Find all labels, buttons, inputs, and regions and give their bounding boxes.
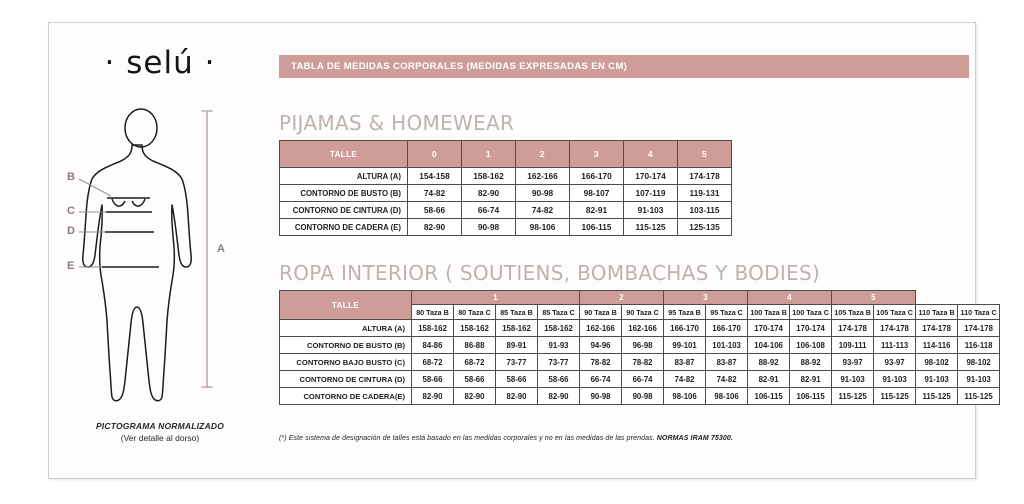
- cell: 90-98: [622, 388, 664, 405]
- cell: 158-162: [538, 320, 580, 337]
- cell: 111-113: [874, 337, 916, 354]
- marker-label-b: B: [67, 171, 75, 183]
- footnote: (*) Este sistema de designación de talle…: [279, 435, 733, 442]
- row-label: CONTORNO DE CADERA(E): [280, 388, 412, 405]
- cell: 162-166: [516, 168, 570, 185]
- cell: 158-162: [454, 320, 496, 337]
- cell: 91-103: [916, 371, 958, 388]
- row-label: CONTORNO DE CINTURA (D): [280, 371, 412, 388]
- cell: 83-87: [706, 354, 748, 371]
- table-row: ALTURA (A) 158-162 158-162 158-162 158-1…: [280, 320, 1000, 337]
- row-label: CONTORNO DE BUSTO (B): [280, 185, 408, 202]
- row-label: CONTORNO BAJO BUSTO (C): [280, 354, 412, 371]
- header-size-1: 1: [462, 141, 516, 168]
- cell: 82-90: [496, 388, 538, 405]
- row-label: CONTORNO DE BUSTO (B): [280, 337, 412, 354]
- cell: 125-135: [678, 219, 732, 236]
- body-pictogram: B C D E A: [49, 95, 271, 415]
- cell: 116-118: [958, 337, 1000, 354]
- cell: 94-96: [580, 337, 622, 354]
- header-sub-5: 90 Taza C: [622, 305, 664, 320]
- cell: 82-90: [412, 388, 454, 405]
- cell: 91-103: [832, 371, 874, 388]
- cell: 106-115: [790, 388, 832, 405]
- cell: 119-131: [678, 185, 732, 202]
- row-label: CONTORNO DE CINTURA (D): [280, 202, 408, 219]
- cell: 82-90: [538, 388, 580, 405]
- table-row: ALTURA (A) 154-158 158-162 162-166 166-1…: [280, 168, 732, 185]
- caption-line-1: PICTOGRAMA NORMALIZADO: [49, 421, 271, 431]
- cell: 166-170: [570, 168, 624, 185]
- section-title-ropa-interior: ROPA INTERIOR ( SOUTIENS, BOMBACHAS Y BO…: [279, 261, 820, 285]
- cell: 66-74: [462, 202, 516, 219]
- section-title-pijamas: PIJAMAS & HOMEWEAR: [279, 111, 514, 135]
- cell: 166-170: [664, 320, 706, 337]
- cell: 98-106: [664, 388, 706, 405]
- header-sub-10: 105 Taza B: [832, 305, 874, 320]
- header-talle: TALLE: [280, 291, 412, 320]
- cell: 103-115: [678, 202, 732, 219]
- cell: 58-66: [412, 371, 454, 388]
- right-panel: TABLA DE MEDIDAS CORPORALES (MEDIDAS EXP…: [271, 23, 975, 478]
- cell: 82-90: [454, 388, 496, 405]
- marker-label-e: E: [67, 260, 74, 272]
- header-sub-9: 100 Taza C: [790, 305, 832, 320]
- cell: 93-97: [832, 354, 874, 371]
- header-talle: TALLE: [280, 141, 408, 168]
- cell: 170-174: [748, 320, 790, 337]
- table-pijamas: TALLE 0 1 2 3 4 5 ALTURA (A) 154-158 158…: [279, 140, 732, 236]
- cell: 162-166: [622, 320, 664, 337]
- cell: 106-115: [570, 219, 624, 236]
- cell: 115-125: [958, 388, 1000, 405]
- cell: 83-87: [664, 354, 706, 371]
- table-ropa-interior: TALLE 1 2 3 4 5 80 Taza B 80 Taza C 85 T…: [279, 290, 1000, 405]
- cell: 154-158: [408, 168, 462, 185]
- cell: 91-103: [958, 371, 1000, 388]
- header-group-1: 1: [412, 291, 580, 305]
- cell: 91-103: [874, 371, 916, 388]
- row-label: ALTURA (A): [280, 320, 412, 337]
- cell: 78-82: [580, 354, 622, 371]
- cell: 73-77: [496, 354, 538, 371]
- cell: 84-86: [412, 337, 454, 354]
- header-group-2: 2: [580, 291, 664, 305]
- header-sub-11: 105 Taza C: [874, 305, 916, 320]
- cell: 91-93: [538, 337, 580, 354]
- table-row: CONTORNO DE BUSTO (B) 84-86 86-88 89-91 …: [280, 337, 1000, 354]
- cell: 115-125: [832, 388, 874, 405]
- footnote-text: (*) Este sistema de designación de talle…: [279, 435, 657, 442]
- cell: 115-125: [874, 388, 916, 405]
- cell: 104-106: [748, 337, 790, 354]
- cell: 115-125: [624, 219, 678, 236]
- cell: 174-178: [916, 320, 958, 337]
- header-size-5: 5: [678, 141, 732, 168]
- header-sub-8: 100 Taza B: [748, 305, 790, 320]
- cell: 96-98: [622, 337, 664, 354]
- cell: 90-98: [516, 185, 570, 202]
- cell: 78-82: [622, 354, 664, 371]
- cell: 82-91: [748, 371, 790, 388]
- header-sub-13: 110 Taza C: [958, 305, 1000, 320]
- header-sub-1: 80 Taza C: [454, 305, 496, 320]
- cell: 88-92: [790, 354, 832, 371]
- table-row: CONTORNO DE BUSTO (B) 74-82 82-90 90-98 …: [280, 185, 732, 202]
- header-sub-7: 95 Taza C: [706, 305, 748, 320]
- cell: 82-91: [570, 202, 624, 219]
- table-row: CONTORNO BAJO BUSTO (C) 68-72 68-72 73-7…: [280, 354, 1000, 371]
- cell: 74-82: [408, 185, 462, 202]
- cell: 115-125: [916, 388, 958, 405]
- cell: 114-116: [916, 337, 958, 354]
- cell: 74-82: [664, 371, 706, 388]
- header-sub-0: 80 Taza B: [412, 305, 454, 320]
- cell: 174-178: [832, 320, 874, 337]
- header-sub-12: 110 Taza B: [916, 305, 958, 320]
- cell: 93-97: [874, 354, 916, 371]
- cell: 91-103: [624, 202, 678, 219]
- cell: 98-106: [516, 219, 570, 236]
- header-size-2: 2: [516, 141, 570, 168]
- brand-logo: · selú ·: [49, 45, 271, 81]
- cell: 98-102: [916, 354, 958, 371]
- cell: 98-102: [958, 354, 1000, 371]
- cell: 170-174: [624, 168, 678, 185]
- cell: 73-77: [538, 354, 580, 371]
- cell: 82-91: [790, 371, 832, 388]
- cell: 82-90: [462, 185, 516, 202]
- female-body-outline-icon: [49, 95, 271, 415]
- table-group-header-row: TALLE 1 2 3 4 5: [280, 291, 1000, 305]
- cell: 66-74: [622, 371, 664, 388]
- cell: 66-74: [580, 371, 622, 388]
- cell: 107-119: [624, 185, 678, 202]
- row-label: CONTORNO DE CADERA (E): [280, 219, 408, 236]
- cell: 174-178: [874, 320, 916, 337]
- header-size-3: 3: [570, 141, 624, 168]
- marker-label-c: C: [67, 205, 75, 217]
- left-panel: · selú ·: [49, 23, 271, 478]
- cell: 99-101: [664, 337, 706, 354]
- pictogram-caption: PICTOGRAMA NORMALIZADO (Ver detalle al d…: [49, 421, 271, 443]
- cell: 106-108: [790, 337, 832, 354]
- table-row: CONTORNO DE CINTURA (D) 58-66 58-66 58-6…: [280, 371, 1000, 388]
- cell: 90-98: [580, 388, 622, 405]
- table-header-row: TALLE 0 1 2 3 4 5: [280, 141, 732, 168]
- header-sub-3: 85 Taza C: [538, 305, 580, 320]
- header-size-4: 4: [624, 141, 678, 168]
- header-sub-4: 90 Taza B: [580, 305, 622, 320]
- cell: 98-106: [706, 388, 748, 405]
- cell: 58-66: [538, 371, 580, 388]
- cell: 174-178: [678, 168, 732, 185]
- cell: 170-174: [790, 320, 832, 337]
- header-group-5: 5: [832, 291, 916, 305]
- header-sub-6: 95 Taza B: [664, 305, 706, 320]
- cell: 58-66: [496, 371, 538, 388]
- cell: 101-103: [706, 337, 748, 354]
- cell: 158-162: [496, 320, 538, 337]
- cell: 82-90: [408, 219, 462, 236]
- cell: 166-170: [706, 320, 748, 337]
- cell: 58-66: [454, 371, 496, 388]
- marker-label-d: D: [67, 225, 75, 237]
- header-sub-2: 85 Taza B: [496, 305, 538, 320]
- cell: 86-88: [454, 337, 496, 354]
- cell: 89-91: [496, 337, 538, 354]
- caption-line-2: (Ver detalle al dorso): [49, 433, 271, 443]
- header-group-4: 4: [748, 291, 832, 305]
- cell: 98-107: [570, 185, 624, 202]
- cell: 106-115: [748, 388, 790, 405]
- cell: 158-162: [412, 320, 454, 337]
- table-row: CONTORNO DE CADERA(E) 82-90 82-90 82-90 …: [280, 388, 1000, 405]
- cell: 158-162: [462, 168, 516, 185]
- cell: 162-166: [580, 320, 622, 337]
- header-size-0: 0: [408, 141, 462, 168]
- cell: 68-72: [454, 354, 496, 371]
- cell: 90-98: [462, 219, 516, 236]
- cell: 88-92: [748, 354, 790, 371]
- measurements-banner: TABLA DE MEDIDAS CORPORALES (MEDIDAS EXP…: [279, 55, 969, 78]
- table-row: CONTORNO DE CINTURA (D) 58-66 66-74 74-8…: [280, 202, 732, 219]
- cell: 74-82: [516, 202, 570, 219]
- cell: 74-82: [706, 371, 748, 388]
- size-chart-card: · selú ·: [48, 22, 976, 479]
- footnote-norm: NORMAS IRAM 75300.: [657, 435, 733, 442]
- cell: 68-72: [412, 354, 454, 371]
- cell: 109-111: [832, 337, 874, 354]
- row-label: ALTURA (A): [280, 168, 408, 185]
- cell: 174-178: [958, 320, 1000, 337]
- cell: 58-66: [408, 202, 462, 219]
- header-group-3: 3: [664, 291, 748, 305]
- marker-label-a: A: [217, 243, 225, 255]
- table-row: CONTORNO DE CADERA (E) 82-90 90-98 98-10…: [280, 219, 732, 236]
